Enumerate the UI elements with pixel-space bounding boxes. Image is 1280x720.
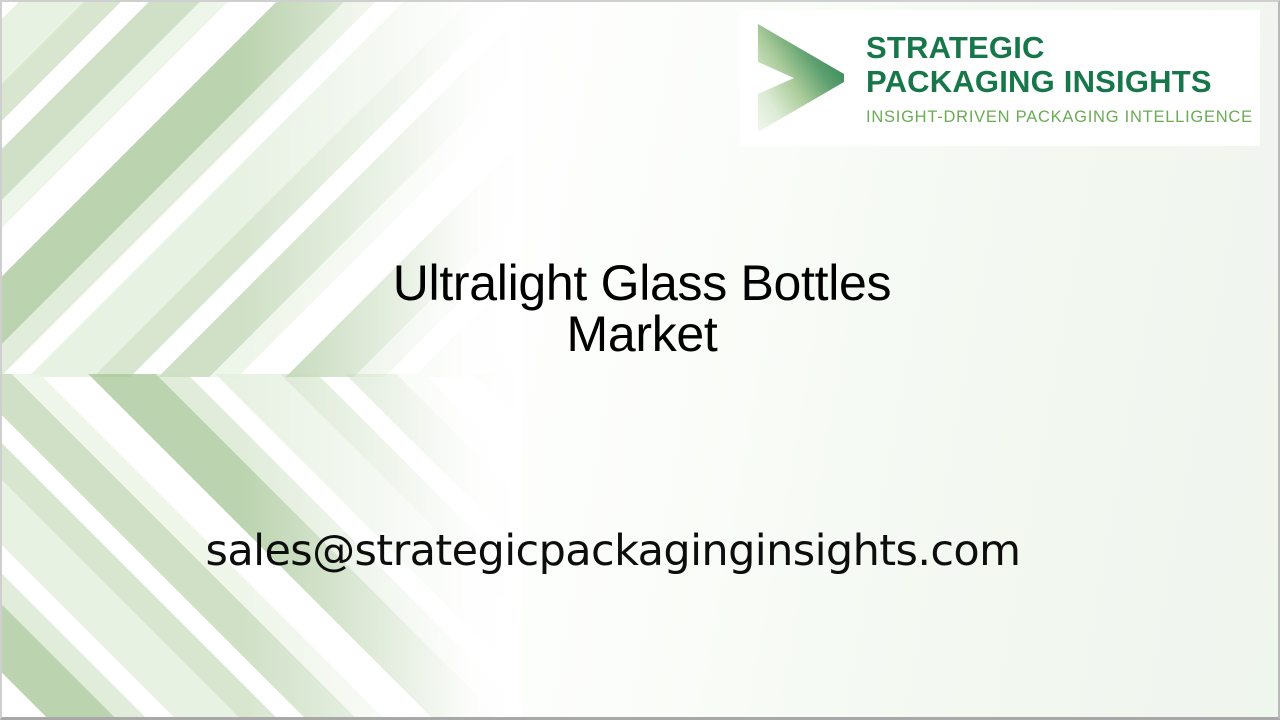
slide-canvas: STRATEGIC PACKAGING INSIGHTS INSIGHT-DRI…	[0, 0, 1280, 720]
logo-tagline: INSIGHT-DRIVEN PACKAGING INTELLIGENCE	[866, 109, 1253, 126]
page-title-line-1: Ultralight Glass Bottles	[393, 255, 892, 311]
page-title-line-2: Market	[566, 306, 717, 362]
page-title: Ultralight Glass Bottles Market	[332, 258, 952, 360]
logo-wordmark-line-2: PACKAGING INSIGHTS	[866, 64, 1253, 100]
chevron-mark-icon	[746, 18, 850, 138]
logo-text-block: STRATEGIC PACKAGING INSIGHTS INSIGHT-DRI…	[866, 31, 1253, 126]
contact-email[interactable]: sales@strategicpackaginginsights.com	[0, 523, 1253, 579]
company-logo: STRATEGIC PACKAGING INSIGHTS INSIGHT-DRI…	[740, 10, 1260, 146]
logo-wordmark-line-1: STRATEGIC	[866, 31, 1253, 64]
